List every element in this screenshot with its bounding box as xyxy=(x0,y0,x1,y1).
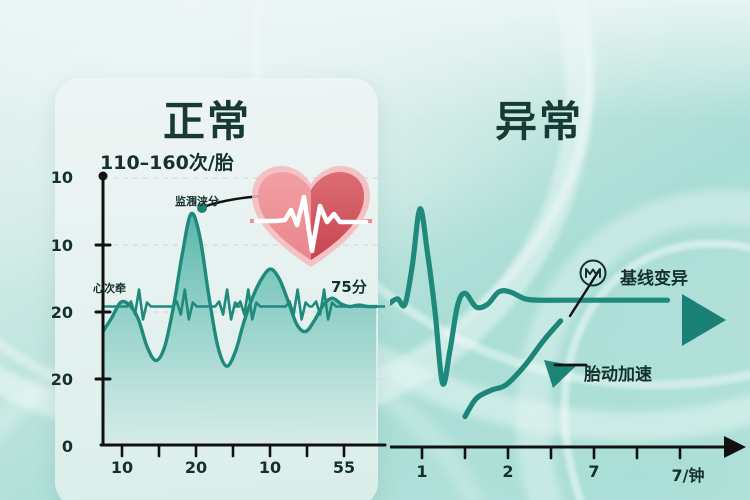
x-tick-label-3: 55 xyxy=(324,458,364,477)
y-tick-label-0: 10 xyxy=(47,168,73,187)
abnormal-x-tick-3: 7/钟 xyxy=(656,462,720,486)
baseline-arrow-head xyxy=(682,294,726,346)
annotation-baseline: 心次牵 xyxy=(93,280,126,296)
x-tick-label-2: 10 xyxy=(250,458,290,477)
x-axis-ticks xyxy=(122,445,344,456)
annotation-monitor: 监涠浃分 xyxy=(175,193,219,209)
abnormal-x-tick-0: 1 xyxy=(407,462,437,481)
y-tick-label-3: 20 xyxy=(47,370,73,389)
abnormal-x-tick-2: 7 xyxy=(579,462,609,481)
fhr-range-label: 110–160次/胎 xyxy=(100,148,234,175)
abnormal-x-tick-1: 2 xyxy=(493,462,523,481)
acceleration-trace xyxy=(465,321,561,417)
abnormal-x-ticks xyxy=(422,447,680,458)
circled-m-icon xyxy=(578,258,608,288)
x-tick-label-1: 20 xyxy=(176,458,216,477)
y-tick-label-2: 20 xyxy=(47,303,73,322)
abnormal-chart-svg xyxy=(390,150,750,485)
y-tick-label-4: 0 xyxy=(47,437,73,456)
abnormal-x-axis-arrow xyxy=(724,436,746,458)
annotation-fetal-acceleration: 胎动加速 xyxy=(584,360,652,385)
x-tick-label-0: 10 xyxy=(102,458,142,477)
abnormal-chart: 1 2 7 7/钟 xyxy=(390,150,750,485)
y-tick-label-1: 10 xyxy=(47,236,73,255)
heart-ecg-icon xyxy=(250,163,372,275)
infographic-canvas: 正常 异常 xyxy=(0,0,750,500)
panel-title-abnormal: 异常 xyxy=(495,88,583,149)
annotation-baseline-variability: 基线变异 xyxy=(620,264,688,289)
annotation-score: 75分 xyxy=(331,276,367,297)
